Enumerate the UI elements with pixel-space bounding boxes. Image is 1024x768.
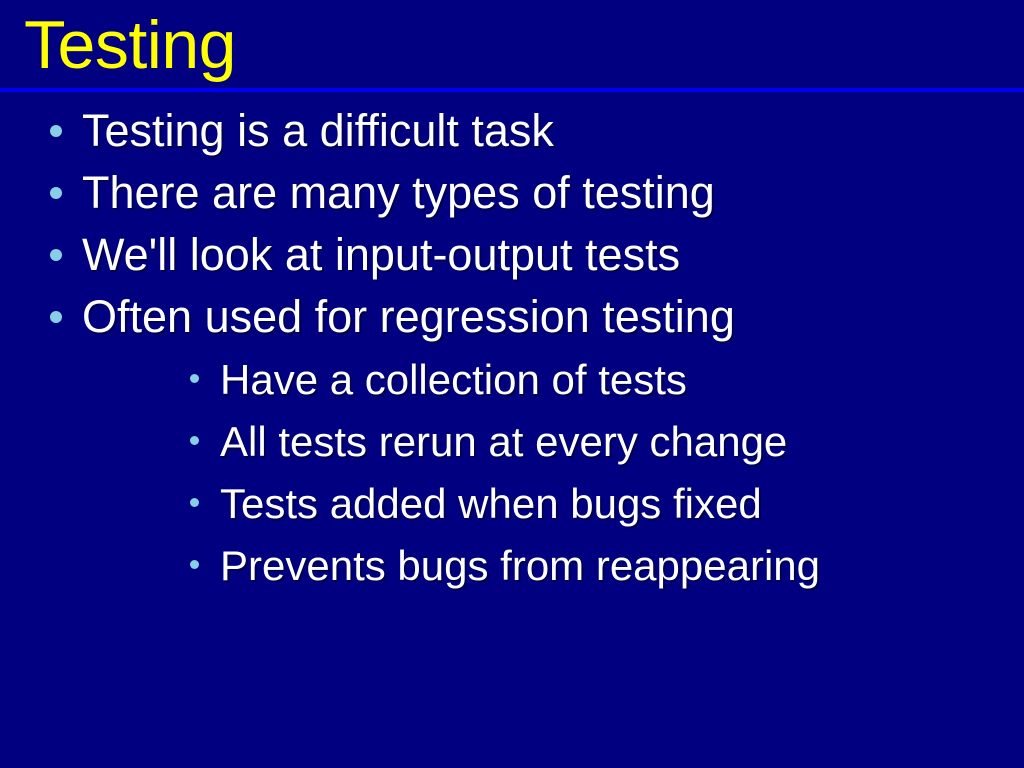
- sub-bullet-list: Have a collection of tests All tests rer…: [82, 348, 1024, 596]
- bullet-item: There are many types of testing: [0, 162, 1024, 224]
- sub-bullet-item-label: Prevents bugs from reappearing: [220, 534, 1024, 597]
- sub-bullet-item-label: Tests added when bugs fixed: [220, 472, 1024, 535]
- bullet-item: Testing is a difficult task: [0, 100, 1024, 162]
- bullet-item: Often used for regression testing Have a…: [0, 286, 1024, 348]
- bullet-dot-icon: [190, 436, 199, 445]
- bullet-item-label: We'll look at input-output tests: [82, 224, 1024, 286]
- sub-bullet-item: Tests added when bugs fixed: [82, 472, 1024, 534]
- bullet-dot-icon: [50, 311, 62, 323]
- bullet-item: We'll look at input-output tests: [0, 224, 1024, 286]
- title-divider-rule: [0, 88, 1024, 92]
- presentation-slide: Testing Testing is a difficult task Ther…: [0, 0, 1024, 768]
- bullet-item-label: There are many types of testing: [82, 162, 1024, 224]
- sub-bullet-item: All tests rerun at every change: [82, 410, 1024, 472]
- bullet-item-label: Often used for regression testing: [82, 286, 1024, 348]
- slide-title: Testing: [24, 2, 236, 88]
- bullet-item-label: Testing is a difficult task: [82, 100, 1024, 162]
- bullet-dot-icon: [190, 560, 199, 569]
- sub-bullet-item: Prevents bugs from reappearing: [82, 534, 1024, 596]
- bullet-dot-icon: [50, 249, 62, 261]
- sub-bullet-item-label: Have a collection of tests: [220, 348, 1024, 411]
- bullet-dot-icon: [50, 187, 62, 199]
- bullet-dot-icon: [50, 125, 62, 137]
- bullet-dot-icon: [190, 498, 199, 507]
- slide-body-bullet-list: Testing is a difficult task There are ma…: [0, 100, 1024, 348]
- sub-bullet-item: Have a collection of tests: [82, 348, 1024, 410]
- bullet-dot-icon: [190, 374, 199, 383]
- sub-bullet-item-label: All tests rerun at every change: [220, 410, 1024, 473]
